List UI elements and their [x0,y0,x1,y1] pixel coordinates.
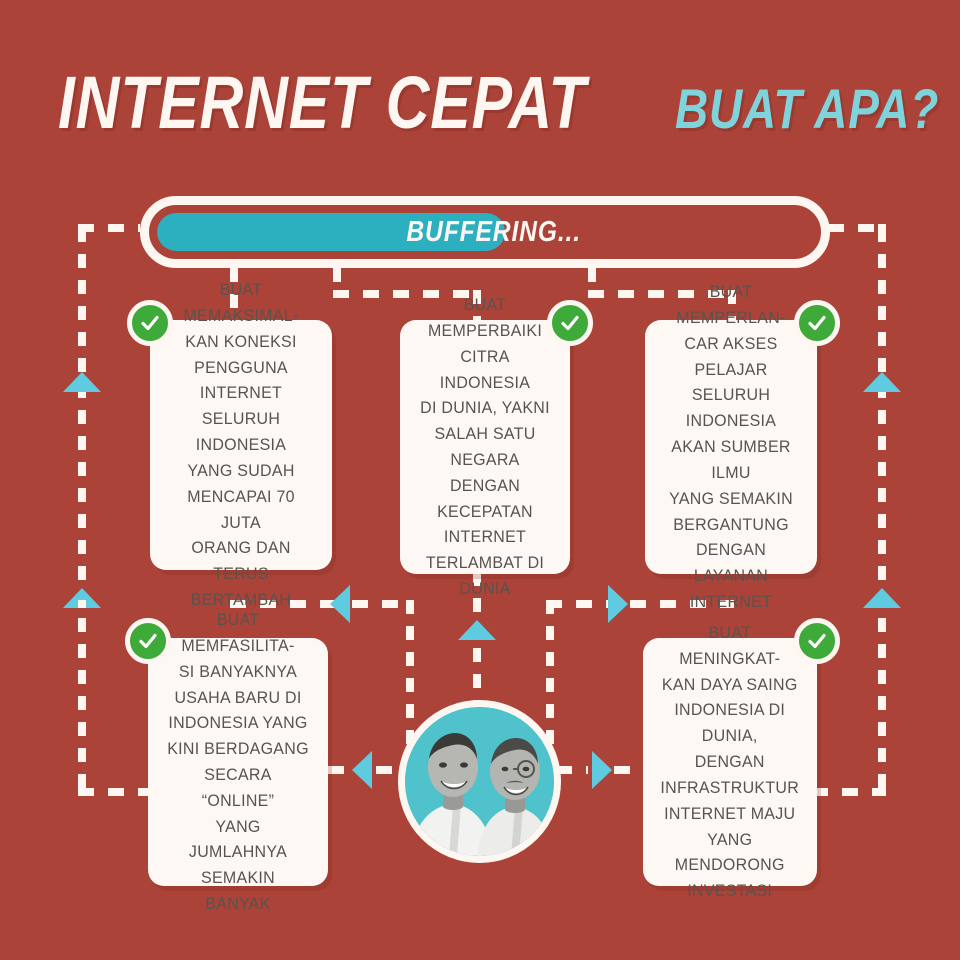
connector-right-trunk [878,228,886,793]
info-card-perbaiki-citra[interactable]: BUAT MEMPERBAIKI CITRA INDONESIA DI DUNI… [400,320,570,574]
connector-photo-right-run [556,766,588,774]
connector-mid-left-run2 [352,600,414,608]
check-icon [794,618,840,664]
arrow-up-icon-right-b [863,588,901,608]
check-icon [794,300,840,346]
connector-top-left-stub [78,224,140,232]
arrow-up-icon-center [458,620,496,640]
page-title: INTERNET CEPAT BUAT APA? [0,60,960,145]
connector-bottom-right [812,788,886,796]
infographic-poster: INTERNET CEPAT BUAT APA? BUFFERING... [0,0,960,960]
check-icon [127,300,173,346]
arrow-left-icon-photo [352,751,372,789]
check-icon [547,300,593,346]
title-accent: BUAT APA? [675,76,939,141]
connector-corner-mid-l [78,600,86,608]
connector-photo-right-run2 [614,766,642,774]
portrait-illustration [405,707,554,856]
info-card-text: BUAT MEMPERBAIKI CITRA INDONESIA DI DUNI… [418,292,551,602]
arrow-up-icon-right-a [863,372,901,392]
connector-center-lower [473,648,481,708]
info-card-text: BUAT MEMPERLAN- CAR AKSES PELAJAR SELURU… [663,279,798,615]
info-card-maksimalkan-koneksi[interactable]: BUAT MEMAKSIMAL- KAN KONEKSI PENGGUNA IN… [150,320,332,570]
info-card-text: BUAT MENINGKAT- KAN DAYA SAING INDONESIA… [661,620,800,904]
check-icon [125,618,171,664]
info-card-daya-saing[interactable]: BUAT MENINGKAT- KAN DAYA SAING INDONESIA… [643,638,817,886]
title-main: INTERNET CEPAT [58,60,586,145]
info-card-fasilitasi-usaha[interactable]: BUAT MEMFASILITA- SI BANYAKNYA USAHA BAR… [148,638,328,886]
progress-track [157,213,813,251]
info-card-text: BUAT MEMAKSIMAL- KAN KONEKSI PENGGUNA IN… [169,277,314,613]
arrow-right-icon-photo [592,751,612,789]
arrow-up-icon-left-a [63,372,101,392]
arrow-right-icon-mid [608,585,628,623]
connector-mid-right-run [546,600,610,608]
connector-bottom-left [78,788,150,796]
arrow-left-icon-mid [330,585,350,623]
info-card-akses-pelajar[interactable]: BUAT MEMPERLAN- CAR AKSES PELAJAR SELURU… [645,320,817,574]
portrait-photo-inner [405,707,554,856]
buffering-progress-bar: BUFFERING... [140,196,830,268]
progress-fill [157,213,505,251]
portrait-photo [398,700,561,863]
info-card-text: BUAT MEMFASILITA- SI BANYAKNYA USAHA BAR… [167,607,310,917]
connector-left-trunk [78,228,86,793]
